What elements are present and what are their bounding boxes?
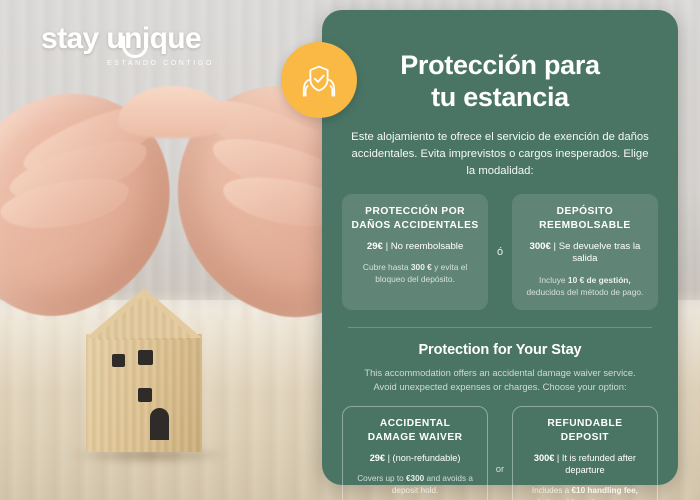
- options-english: ACCIDENTAL DAMAGE WAIVER 29€ | (non-refu…: [342, 406, 658, 500]
- option-heading-line-1: REFUNDABLE: [547, 418, 622, 429]
- option-note-strong: 10 € de gestión,: [568, 275, 631, 285]
- protection-panel: Protección para tu estancia Este alojami…: [322, 10, 678, 485]
- option-price-terms: (non-refundable): [393, 453, 461, 463]
- brand-logo: stay unique ESTANDO CONTIGO: [41, 24, 261, 67]
- option-note-strong: 300 €: [411, 262, 432, 272]
- option-card-refundable-deposit-es[interactable]: DEPÓSITO REEMBOLSABLE 300€ | Se devuelve…: [512, 194, 658, 310]
- option-note-pre: Incluye: [539, 275, 568, 285]
- option-heading-line-2: DAÑOS ACCIDENTALES: [351, 220, 478, 231]
- description-english: This accommodation offers an accidental …: [357, 366, 643, 394]
- title-line-2: tu estancia: [342, 82, 658, 114]
- shield-check-in-hands-icon: [281, 42, 357, 118]
- option-note: Incluye 10 € de gestión, deducidos del m…: [521, 274, 649, 298]
- options-separator-es: ó: [488, 194, 512, 310]
- option-note-pre: Includes a: [532, 486, 572, 495]
- option-heading-line-2: DEPOSIT: [561, 432, 609, 443]
- option-heading: ACCIDENTAL DAMAGE WAIVER: [352, 417, 478, 445]
- price-divider: |: [554, 241, 557, 252]
- option-price-terms: Se devuelve tras la salida: [559, 241, 641, 264]
- option-price-terms: No reembolsable: [391, 241, 464, 252]
- option-note-post: deducidos del método de pago.: [526, 287, 643, 297]
- price-divider: |: [386, 241, 389, 252]
- option-note: Covers up to €300 and avoids a deposit h…: [352, 473, 478, 497]
- option-heading-line-2: REEMBOLSABLE: [539, 220, 630, 231]
- brand-tagline: ESTANDO CONTIGO: [107, 60, 261, 67]
- option-heading-line-1: DEPÓSITO: [557, 206, 613, 217]
- option-heading-line-1: PROTECCIÓN POR: [365, 206, 465, 217]
- house-window: [138, 350, 153, 365]
- description-spanish: Este alojamiento te ofrece el servicio d…: [350, 129, 650, 180]
- promo-card-screenshot: stay unique ESTANDO CONTIGO Protección p…: [0, 0, 700, 500]
- house-door: [150, 408, 169, 440]
- title-line-1: Protección para: [400, 50, 600, 80]
- options-separator-en: or: [488, 406, 512, 500]
- page-title: Protección para tu estancia: [342, 50, 658, 114]
- option-card-accidental-damage-es[interactable]: PROTECCIÓN POR DAÑOS ACCIDENTALES 29€ | …: [342, 194, 488, 310]
- option-price: 300€ | It is refunded after departure: [522, 453, 648, 477]
- section-divider: [348, 327, 652, 328]
- price-divider: |: [557, 453, 559, 463]
- options-spanish: PROTECCIÓN POR DAÑOS ACCIDENTALES 29€ | …: [342, 194, 658, 310]
- option-card-accidental-damage-en[interactable]: ACCIDENTAL DAMAGE WAIVER 29€ | (non-refu…: [342, 406, 488, 500]
- option-card-refundable-deposit-en[interactable]: REFUNDABLE DEPOSIT 300€ | It is refunded…: [512, 406, 658, 500]
- option-price: 300€ | Se devuelve tras la salida: [521, 241, 649, 266]
- option-note: Includes a €10 handling fee, deducted fr…: [522, 485, 648, 500]
- option-price-terms: It is refunded after departure: [562, 453, 636, 475]
- option-note-pre: Covers up to: [357, 474, 406, 483]
- option-price-amount: 300€: [530, 241, 551, 252]
- option-price-amount: 29€: [367, 241, 383, 252]
- option-heading: PROTECCIÓN POR DAÑOS ACCIDENTALES: [351, 205, 479, 233]
- option-heading: DEPÓSITO REEMBOLSABLE: [521, 205, 649, 233]
- wooden-toy-house: [86, 288, 202, 452]
- option-note-strong: €10 handling fee,: [572, 486, 638, 495]
- option-note-strong: €300: [406, 474, 424, 483]
- house-window: [112, 354, 125, 367]
- option-price-amount: 300€: [534, 453, 554, 463]
- house-window: [138, 388, 152, 402]
- option-price-amount: 29€: [370, 453, 385, 463]
- subtitle-english: Protection for Your Stay: [342, 342, 658, 358]
- price-divider: |: [388, 453, 390, 463]
- option-note: Cubre hasta 300 € y evita el bloqueo del…: [351, 261, 479, 285]
- option-note-pre: Cubre hasta: [363, 262, 411, 272]
- brand-wordmark: stay unique: [41, 24, 261, 54]
- option-heading: REFUNDABLE DEPOSIT: [522, 417, 648, 445]
- option-heading-line-2: DAMAGE WAIVER: [368, 432, 463, 443]
- option-heading-line-1: ACCIDENTAL: [380, 418, 450, 429]
- option-price: 29€ | (non-refundable): [352, 453, 478, 465]
- option-price: 29€ | No reembolsable: [351, 241, 479, 253]
